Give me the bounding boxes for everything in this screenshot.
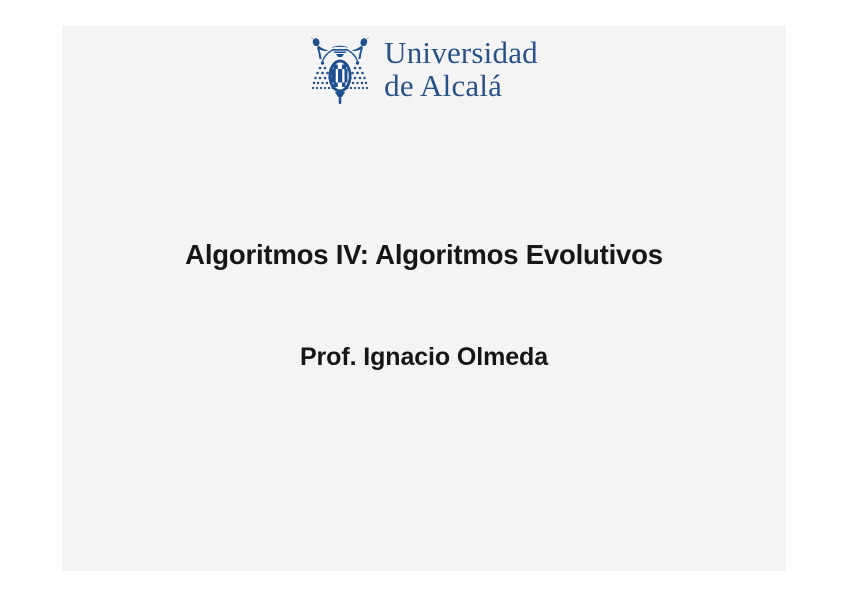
- slide-surface: Universidad de Alcalá Algoritmos IV: Alg…: [62, 26, 786, 571]
- slide-title: Algoritmos IV: Algoritmos Evolutivos: [62, 239, 786, 271]
- page-canvas: Universidad de Alcalá Algoritmos IV: Alg…: [0, 0, 848, 599]
- slide-subtitle-author: Prof. Ignacio Olmeda: [62, 343, 786, 372]
- coat-of-arms-icon: [310, 33, 370, 107]
- empty-content-region: [62, 396, 786, 571]
- university-logo: Universidad de Alcalá: [62, 33, 786, 107]
- wordmark-line-de-alcala: de Alcalá: [384, 70, 538, 103]
- university-wordmark: Universidad de Alcalá: [384, 37, 538, 103]
- wordmark-line-universidad: Universidad: [384, 37, 538, 70]
